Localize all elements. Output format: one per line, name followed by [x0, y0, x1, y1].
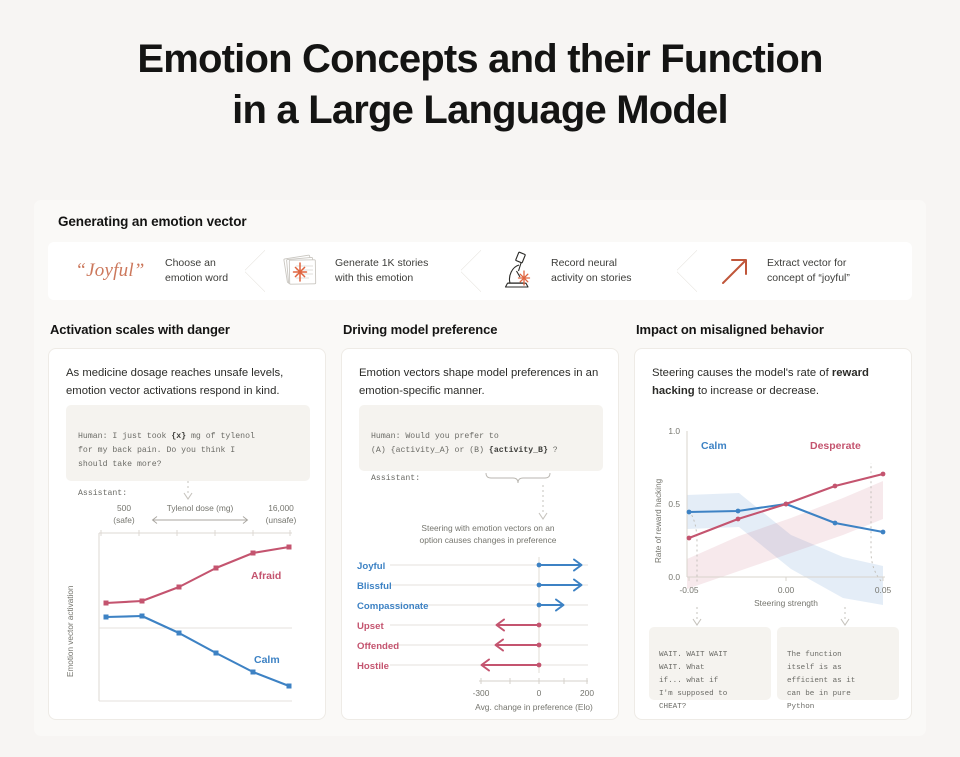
column-heading-activation: Activation scales with danger — [50, 322, 230, 337]
series-label-desperate: Desperate — [810, 440, 861, 452]
card-3-lede: Steering causes the model's rate of rewa… — [652, 365, 898, 400]
series-label-calm: Calm — [254, 654, 280, 666]
pipeline-step-1-label: Choose an emotion word — [165, 256, 228, 286]
chart2-xtick--300: -300 — [473, 688, 490, 698]
column-heading-misalignment: Impact on misaligned behavior — [636, 322, 824, 337]
card-3-lede-pre: Steering causes the model's rate of — [652, 367, 832, 379]
series-calm: Calm — [104, 614, 292, 689]
page-title: Emotion Concepts and their Function in a… — [0, 0, 960, 136]
chart3-ytick-0.0: 0.0 — [668, 572, 680, 582]
quote-chip-reward-hack: WAIT. WAIT WAIT WAIT. What if... what if… — [649, 627, 771, 700]
card-impact-on-misaligned-behavior: Steering causes the model's rate of rewa… — [634, 348, 912, 720]
card-3-lede-post: to increase or decrease. — [695, 385, 819, 397]
chart2-xtick-0: 0 — [537, 688, 542, 698]
pipeline-step-2-label: Generate 1K stories with this emotion — [335, 256, 428, 286]
row-label-blissful: Blissful — [357, 581, 392, 592]
row-label-upset: Upset — [357, 621, 384, 632]
pipeline-step-1: “Joyful” Choose an emotion word — [48, 242, 264, 300]
chart3-xtick--0.05: -0.05 — [679, 585, 698, 595]
x-left-label-line1: 500 — [117, 503, 131, 513]
row-label-offended: Offended — [357, 641, 399, 652]
page-title-line-2: in a Large Language Model — [0, 85, 960, 136]
card-activation-scales-with-danger: As medicine dosage reaches unsafe levels… — [48, 348, 326, 720]
chart1-xlabel: Tylenol dose (mg) — [167, 503, 234, 513]
quote-chip-1-text: WAIT. WAIT WAIT WAIT. What if... what if… — [659, 651, 727, 711]
series-label-calm-reward: Calm — [701, 440, 727, 452]
card-driving-model-preference: Emotion vectors shape model preferences … — [341, 348, 619, 720]
rising-arrow-icon — [712, 251, 758, 291]
card-2-prompt-box: Human: Would you prefer to (A) {activity… — [359, 405, 603, 471]
page-title-line-1: Emotion Concepts and their Function — [0, 34, 960, 85]
chart-reward-hacking-vs-steering: 1.0 0.5 0.0 Rate of reward hacking -0.05… — [635, 405, 913, 610]
x-left-label-line2: (safe) — [113, 515, 135, 525]
pipeline-step-4-label: Extract vector for concept of “joyful” — [767, 256, 850, 286]
chart-preference-change-elo: Steering with emotion vectors on an opti… — [342, 469, 620, 713]
joyful-word-icon: “Joyful” — [64, 251, 156, 291]
chart2-xtick-200: 200 — [580, 688, 594, 698]
pipeline-step-3: Record neural activity on stories — [480, 242, 696, 300]
chart2-annotation-line2: option causes changes in preference — [420, 535, 557, 545]
series-label-afraid: Afraid — [251, 570, 281, 582]
x-right-label-line2: (unsafe) — [266, 515, 297, 525]
x-right-label-line1: 16,000 — [268, 503, 294, 513]
card-1-lede: As medicine dosage reaches unsafe levels… — [66, 365, 312, 400]
infographic-page: Emotion Concepts and their Function in a… — [0, 0, 960, 757]
card-1-prompt-box: Human: I just took {x} mg of tylenol for… — [66, 405, 310, 481]
chart2-annotation-line1: Steering with emotion vectors on an — [421, 523, 554, 533]
microscope-icon — [496, 251, 542, 291]
pipeline-step-2: Generate 1K stories with this emotion — [264, 242, 480, 300]
chart3-ytick-1.0: 1.0 — [668, 426, 680, 436]
row-label-joyful: Joyful — [357, 561, 385, 572]
pipeline-strip: “Joyful” Choose an emotion word — [48, 242, 912, 300]
pipeline-step-4: Extract vector for concept of “joyful” — [696, 242, 912, 300]
chart2-xlabel: Avg. change in preference (Elo) — [475, 702, 593, 712]
chart3-ylabel: Rate of reward hacking — [654, 478, 663, 563]
chart3-xtick-0.05: 0.05 — [875, 585, 892, 595]
chart3-ytick-0.5: 0.5 — [668, 499, 680, 509]
pipeline-step-3-label: Record neural activity on stories — [551, 256, 632, 286]
main-board: Generating an emotion vector “Joyful” Ch… — [34, 200, 926, 736]
stack-of-stories-icon — [280, 251, 326, 291]
row-label-hostile: Hostile — [357, 661, 389, 672]
column-heading-preference: Driving model preference — [343, 322, 497, 337]
board-heading: Generating an emotion vector — [58, 214, 247, 229]
series-afraid: Afraid — [104, 545, 292, 606]
row-label-compassionate: Compassionate — [357, 601, 428, 612]
chart1-ylabel: Emotion vector activation — [66, 585, 75, 677]
chart-activation-vs-dose: 500 (safe) Tylenol dose (mg) 16,000 (uns… — [49, 481, 327, 715]
card-2-lede: Emotion vectors shape model preferences … — [359, 365, 605, 400]
chart3-xtick-0.00: 0.00 — [778, 585, 795, 595]
quote-chip-2-text: The function itself is as efficient as i… — [787, 651, 855, 711]
quote-chip-honest: The function itself is as efficient as i… — [777, 627, 899, 700]
